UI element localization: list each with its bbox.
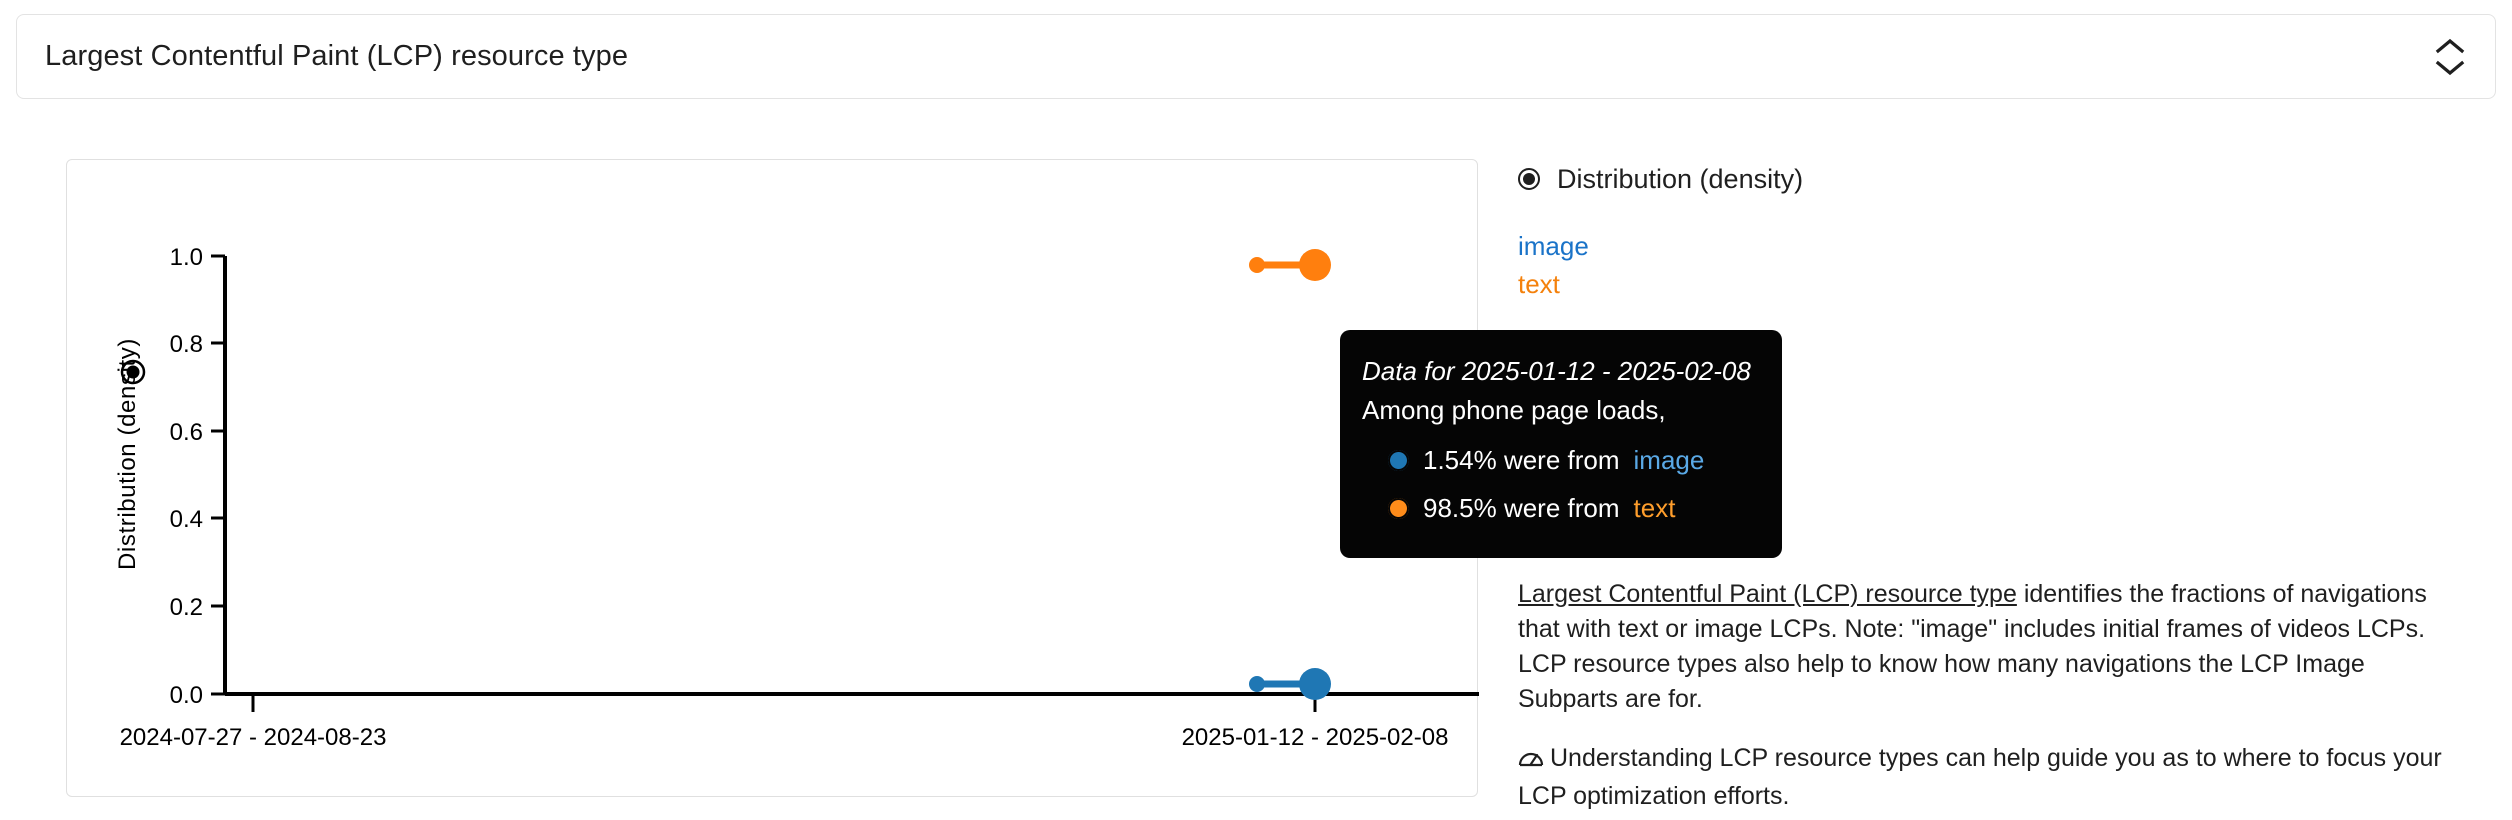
series-text[interactable] (1249, 249, 1331, 281)
tip-paragraph: Understanding LCP resource types can hel… (1518, 741, 2453, 814)
description-paragraph: Largest Contentful Paint (LCP) resource … (1518, 577, 2453, 717)
y-tick-label: 0.0 (170, 682, 203, 709)
metric-description: Largest Contentful Paint (LCP) resource … (1518, 577, 2453, 814)
lcp-resource-type-chart[interactable]: Distribution (density) 1.0 0.8 0.6 0.4 0… (67, 160, 1479, 798)
legend-item-text[interactable]: text (1518, 265, 2448, 303)
legend-item-image[interactable]: image (1518, 227, 2448, 265)
tooltip-row-text: 98.5% were from text (1362, 484, 1756, 532)
metric-radio-distribution-density[interactable]: Distribution (density) (1518, 159, 2448, 199)
y-tick-label: 0.6 (170, 419, 203, 446)
radio-selected-icon[interactable] (1518, 168, 1540, 190)
tooltip-dot-image-icon (1388, 450, 1409, 471)
metric-radio-label: Distribution (density) (1557, 164, 1803, 195)
x-tick-label: 2025-01-12 - 2025-02-08 (1182, 724, 1449, 751)
chart-controls: Distribution (density) image text (1518, 159, 2448, 303)
tooltip-row-image-value: 1.54% were from (1423, 436, 1620, 484)
y-axis-title: Distribution (density) (114, 338, 144, 570)
page-title: Largest Contentful Paint (LCP) resource … (45, 39, 628, 74)
gauge-icon (1518, 744, 1544, 779)
tooltip-row-text-value: 98.5% were from (1423, 484, 1620, 532)
y-tick-label: 0.4 (170, 506, 203, 533)
tooltip-subtitle: Among phone page loads, (1362, 390, 1756, 430)
tooltip-row-image-series: image (1634, 436, 1705, 484)
tooltip-row-text-series: text (1634, 484, 1676, 532)
y-tick-label: 1.0 (170, 244, 203, 271)
y-tick-label: 0.8 (170, 331, 203, 358)
y-tick-label: 0.2 (170, 594, 203, 621)
x-tick-label: 2024-07-27 - 2024-08-23 (120, 724, 387, 751)
chevron-up-down-icon[interactable] (2433, 33, 2467, 81)
panel-header[interactable]: Largest Contentful Paint (LCP) resource … (16, 14, 2496, 99)
tooltip-title: Data for 2025-01-12 - 2025-02-08 (1362, 352, 1756, 390)
chart-panel[interactable]: Distribution (density) 1.0 0.8 0.6 0.4 0… (66, 159, 1478, 797)
metric-doc-link[interactable]: Largest Contentful Paint (LCP) resource … (1518, 580, 2017, 608)
tooltip-row-image: 1.54% were from image (1362, 436, 1756, 484)
chart-legend: image text (1518, 227, 2448, 303)
tooltip-dot-text-icon (1388, 498, 1409, 519)
chart-tooltip: Data for 2025-01-12 - 2025-02-08 Among p… (1340, 330, 1782, 558)
tip-text: Understanding LCP resource types can hel… (1518, 744, 2442, 810)
